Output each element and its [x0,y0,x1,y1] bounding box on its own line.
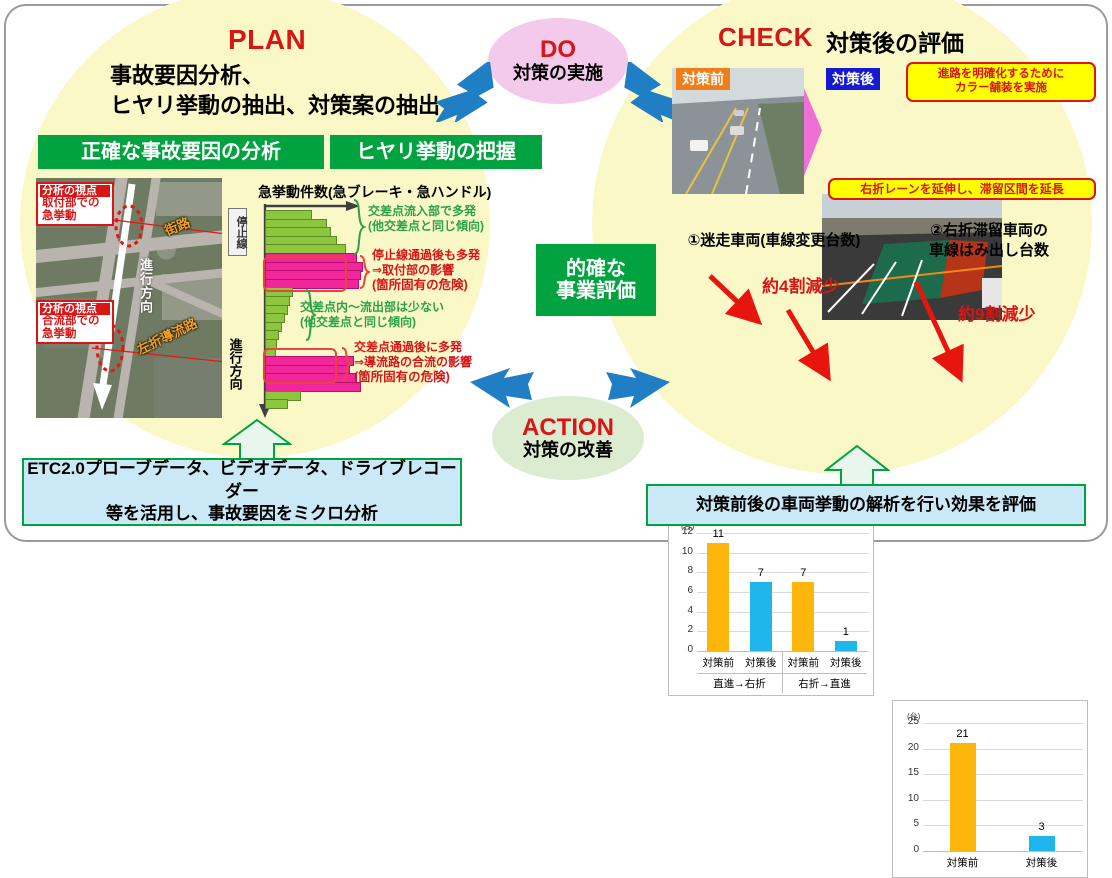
gridline [923,800,1083,801]
x-axis-label: 対策後 [825,655,868,670]
note-3: 交差点内～流出部は少ない (他交差点と同じ傾向) [300,300,444,330]
highlight-box-merge [263,348,337,384]
y-axis-tick: 2 [671,624,693,635]
up-arrow-plan-icon [222,418,292,462]
group-label: 右折→直進 [782,676,867,691]
annotation-body-line1: 取付部での [40,197,110,210]
y-axis-tick: 10 [895,793,919,804]
bottom-box-left: ETC2.0プローブデータ、ビデオデータ、ドライブレコーダー 等を活用し、事故要… [22,458,462,526]
y-axis-tick: 8 [671,565,693,576]
bar-value-label: 11 [698,528,738,540]
callout-right-turn-lane: 右折レーンを延伸し、滞留区間を延長 [828,178,1096,200]
action-subtitle: 対策の改善 [523,441,613,461]
pdca-diagram: PLAN 事故要因分析、 ヒヤリ挙動の抽出、対策案の抽出 正確な事故要因の分析 … [0,0,1112,546]
annotation-merge-point: 分析の視点 合流部での 急挙動 [36,300,114,344]
chip-hiyari-behavior: ヒヤリ挙動の把握 [330,135,542,169]
plan-label: PLAN [228,24,306,56]
x-axis-label: 対策後 [740,655,783,670]
arrow-action-to-plan-icon [466,366,536,430]
callout-color-pavement: 進路を明確化するために カラー舗装を実施 [906,62,1096,102]
y-axis-tick: 0 [895,844,919,855]
annotation-attachment-point: 分析の視点 取付部での 急挙動 [36,182,114,226]
bar [750,582,772,651]
bar [835,641,857,651]
y-axis-tick: 15 [895,767,919,778]
chart1-reduction-annotation: 約4割減少 [762,272,839,297]
note-2: 停止線通過後も多発 ⇒取付部の影響 (箇所固有の危険) [372,248,480,294]
chart2-reduction-annotation: 約9割減少 [958,300,1035,325]
x-axis-label: 対策前 [782,655,825,670]
plan-body-line1: 事故要因分析、 [110,62,264,90]
photo-tag-travel-direction: 進行方向 [136,258,155,314]
annotation-header: 分析の視点 [40,303,110,315]
tag-after: 対策後 [826,68,880,90]
note-1: 交差点流入部で多発 (他交差点と同じ傾向) [368,204,484,234]
up-arrow-check-icon [824,444,890,488]
chart1-title: ①迷走車両(車線変更台数) [664,232,884,249]
bar-value-label: 7 [741,567,781,579]
bracket-icon-1 [352,198,366,256]
y-axis-tick: 0 [671,644,693,655]
gridline [923,749,1083,750]
axis-baseline [923,851,1081,852]
plan-body-line2: ヒヤリ挙動の抽出、対策案の抽出 [110,92,440,120]
do-subtitle: 対策の実施 [513,64,603,84]
stopline-label: 停止線 [228,208,247,256]
y-axis-unit: (台) [907,711,929,722]
highlight-box-stopline [263,256,347,292]
bar [792,582,814,651]
x-axis-label: 対策前 [697,655,740,670]
annotation-body-line1: 合流部での [40,315,110,328]
group-divider [782,651,783,693]
bar-value-label: 7 [783,567,823,579]
chart2-title-line2: 車線はみ出し台数 [886,242,1092,259]
arrow-plan-to-do-icon [428,62,496,122]
chart2-title-line1: ②右折滞留車両の [886,222,1092,239]
gridline [923,723,1083,724]
y-axis-tick: 20 [895,742,919,753]
bracket-icon-2 [358,254,370,290]
annotation-body-line2: 急挙動 [40,210,110,223]
chip-accurate-cause-analysis: 正確な事故要因の分析 [38,135,324,169]
bottom-box-right: 対策前後の車両挙動の解析を行い効果を評価 [646,484,1086,526]
bar [1029,836,1055,851]
bar-value-label: 1 [826,626,866,638]
chip-accurate-evaluation: 的確な 事業評価 [536,244,656,316]
bar [950,743,976,851]
y-axis-tick: 4 [671,605,693,616]
group-label: 直進→右折 [697,676,782,691]
transition-arrow-icon [802,84,824,180]
tag-before: 対策前 [676,68,730,90]
check-label: CHECK [718,22,813,53]
do-oval: DO 対策の実施 [488,18,628,104]
do-title: DO [540,38,576,62]
bar-value-label: 3 [1022,821,1062,833]
y-axis-tick: 10 [671,546,693,557]
y-axis-tick: 5 [895,818,919,829]
y-axis-tick: 6 [671,585,693,596]
chart2-right-turn-overflow: 0510152025(台)21対策前3対策後 [892,700,1088,878]
annotation-body-line2: 急挙動 [40,328,110,341]
note-4: 交差点通過後に多発 ⇒導流路の合流の影響 (箇所固有の危険) [354,340,472,386]
check-heading: 対策後の評価 [826,24,964,58]
bar [707,543,729,651]
bar-value-label: 21 [943,728,983,740]
bracket-icon-4 [340,346,352,382]
chart1-lane-change-vehicles: 024681012(台)11対策前7対策後7対策前1対策後直進→右折右折→直進 [668,514,874,696]
behavior-chart-title: 急挙動件数(急ブレーキ・急ハンドル) [258,182,491,202]
x-axis-label: 対策後 [1002,855,1081,870]
behavior-bar [265,399,288,409]
x-axis-label: 対策前 [923,855,1002,870]
direction-label: 進行方向 [228,338,242,390]
annotation-header: 分析の視点 [40,185,110,197]
gridline [923,774,1083,775]
arrow-check-to-action-icon [604,366,674,430]
